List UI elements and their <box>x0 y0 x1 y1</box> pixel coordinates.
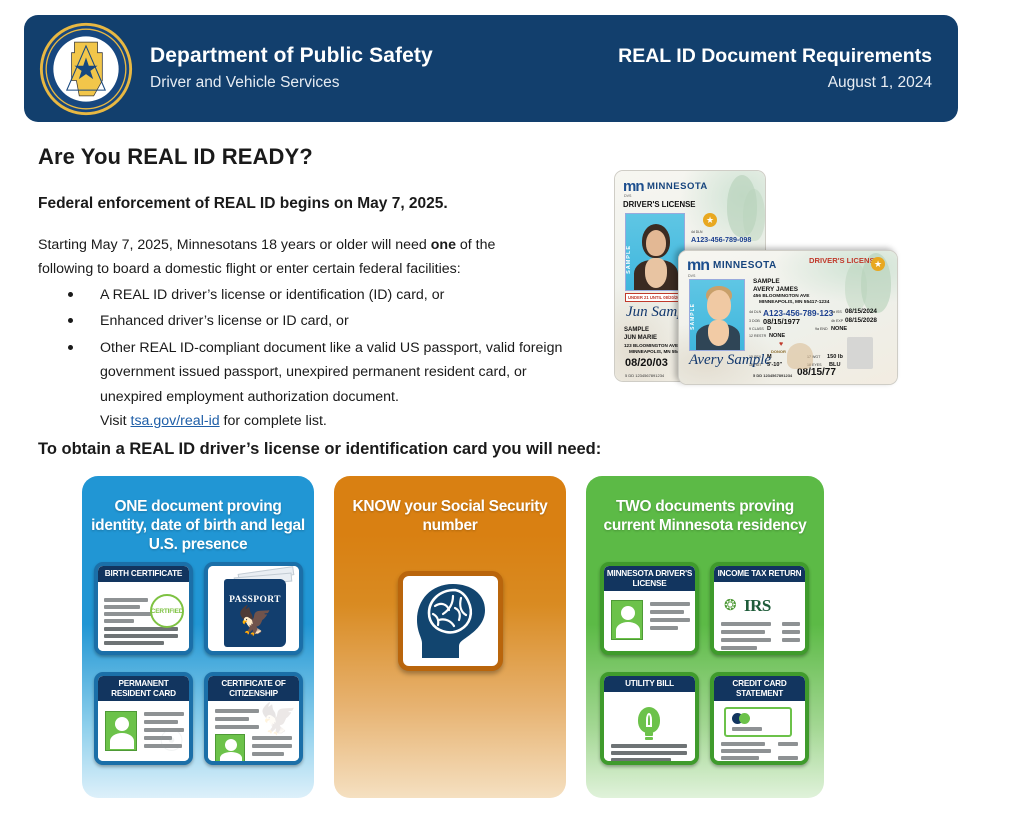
requirements-list: A REAL ID driver’s license or identifica… <box>38 283 583 436</box>
class-label: 9 CLASS <box>749 327 764 331</box>
tile-title: INCOME TAX RETURN <box>714 566 805 582</box>
list-item-label: Enhanced driver’s license or ID card, or <box>100 313 349 329</box>
address-line-1: 456 BLOOMINGTON AVE <box>753 294 809 299</box>
doc-tile-minnesota-drivers-license[interactable]: MINNESOTA DRIVER'S LICENSE <box>600 562 699 655</box>
tile-title: MINNESOTA DRIVER'S LICENSE <box>604 566 695 591</box>
document-discriminator: 5 DD 1234567891234 <box>625 373 664 378</box>
doc-tile-utility-bill[interactable]: UTILITY BILL <box>600 672 699 765</box>
ghost-photo <box>847 337 873 369</box>
gold-star-icon: ★ <box>703 213 717 227</box>
visit-prefix: Visit <box>100 413 131 429</box>
doc-tile-certificate-of-citizenship[interactable]: CERTIFICATE OF CITIZENSHIP 🦅 <box>204 672 303 765</box>
dln-value: A123-456-789-098 <box>691 235 751 244</box>
tile-title: UTILITY BILL <box>604 676 695 692</box>
gold-star-icon: ★ <box>871 257 885 271</box>
mn-logo-sub: DVS <box>688 274 695 278</box>
sample-watermark: SAMPLE <box>626 245 632 274</box>
end-label: 9a END <box>815 327 828 331</box>
division-name: Driver and Vehicle Services <box>150 71 433 94</box>
enforcement-subheading: Federal enforcement of REAL ID begins on… <box>38 195 448 213</box>
tile-title: CREDIT CARD STATEMENT <box>714 676 805 701</box>
intro-text-before: Starting May 7, 2025, Minnesotans 18 yea… <box>38 237 431 253</box>
dob-label: 3 DOB <box>749 319 760 323</box>
page-title: Are You REAL ID READY? <box>38 144 313 170</box>
irs-seal-icon: ❂ <box>724 598 737 613</box>
doc-tile-brain-head[interactable] <box>398 571 503 671</box>
restr-value: NONE <box>769 333 785 339</box>
list-item-label: Other REAL ID-compliant document like a … <box>100 340 562 405</box>
intro-text-bold: one <box>431 237 456 253</box>
first-name: AVERY JAMES <box>753 286 798 293</box>
panel-residency: TWO documents proving current Minnesota … <box>586 476 824 798</box>
iss-label: 4a ISS <box>831 310 842 314</box>
tsa-real-id-link[interactable]: tsa.gov/real-id <box>131 413 220 429</box>
state-name: MINNESOTA <box>647 181 708 192</box>
panel-title: TWO documents proving current Minnesota … <box>586 498 824 536</box>
first-name: JUN MARIE <box>624 335 657 341</box>
list-item-label: A REAL ID driver’s license or identifica… <box>100 287 444 303</box>
dob-display: 08/20/03 <box>625 357 668 369</box>
address-line-1: 123 BLOOMINGTON AVE <box>624 343 678 348</box>
portrait-placeholder-icon <box>611 600 643 640</box>
doc-tile-income-tax-return[interactable]: INCOME TAX RETURN ❂ IRS <box>710 562 809 655</box>
license-photo <box>625 213 685 291</box>
document-title: REAL ID Document Requirements <box>618 44 932 69</box>
header-right: REAL ID Document Requirements August 1, … <box>618 44 932 93</box>
mn-logo-sub: DVS <box>624 194 631 198</box>
sample-license-images: mn DVS MINNESOTA DRIVER'S LICENSE SAMPLE… <box>608 170 958 390</box>
seal-watermark-icon: ☉ <box>158 724 185 759</box>
donor-label: DONOR <box>771 349 786 354</box>
mn-dps-seal-icon: DEPARTMENT OF PUBLIC SAFETY STATE OF MIN… <box>38 21 134 117</box>
irs-label: IRS <box>744 596 771 616</box>
exp-label: 4b EXP <box>831 319 843 323</box>
page-root: DEPARTMENT OF PUBLIC SAFETY STATE OF MIN… <box>0 0 1010 828</box>
tile-title: PERMANENT RESIDENT CARD <box>98 676 189 701</box>
heart-donor-icon: ♥ <box>779 341 783 348</box>
license-signature: Avery Sample <box>689 352 771 369</box>
document-date: August 1, 2024 <box>618 73 932 93</box>
portrait-placeholder-icon <box>105 711 137 751</box>
panel-identity: ONE document proving identity, date of b… <box>82 476 314 798</box>
document-type: DRIVER'S LICENSE <box>809 257 880 265</box>
address-line-2: MINNEAPOLIS, MN 55417 <box>629 349 685 354</box>
doc-tile-birth-certificate[interactable]: BIRTH CERTIFICATE CERTIFIED <box>94 562 193 655</box>
visit-suffix: for complete list. <box>220 413 327 429</box>
doc-tile-permanent-resident-card[interactable]: PERMANENT RESIDENT CARD ☉ <box>94 672 193 765</box>
certified-stamp-icon: CERTIFIED <box>150 594 184 628</box>
bullet-dot-icon <box>68 345 73 350</box>
obtain-heading: To obtain a REAL ID driver’s license or … <box>38 440 601 459</box>
restr-label: 12 RESTR <box>749 334 766 338</box>
license-photo <box>689 279 745 351</box>
department-name: Department of Public Safety <box>150 43 433 69</box>
sample-drivers-license-horizontal: mn DVS MINNESOTA DRIVER'S LICENSE ★ SAMP… <box>678 250 898 385</box>
credit-card-icon <box>724 707 792 737</box>
list-item: Enhanced driver’s license or ID card, or <box>38 309 583 333</box>
tile-title: BIRTH CERTIFICATE <box>98 566 189 582</box>
dob-value: 08/15/1977 <box>763 317 800 326</box>
intro-paragraph: Starting May 7, 2025, Minnesotans 18 yea… <box>38 233 553 282</box>
list-item: Other REAL ID-compliant document like a … <box>38 336 583 434</box>
header-titles: Department of Public Safety Driver and V… <box>150 43 433 95</box>
bear-watermark-icon <box>787 343 813 369</box>
end-value: NONE <box>831 326 847 332</box>
passport-label: PASSPORT <box>224 595 286 605</box>
last-name: SAMPLE <box>753 278 780 285</box>
dln-label: 4d DLN <box>691 230 703 234</box>
sample-watermark: SAMPLE <box>690 303 696 330</box>
panel-ssn: KNOW your Social Security number <box>334 476 566 798</box>
tile-title: CERTIFICATE OF CITIZENSHIP <box>208 676 299 701</box>
last-name: SAMPLE <box>624 327 649 333</box>
state-name: MINNESOTA <box>713 260 777 271</box>
list-item: A REAL ID driver’s license or identifica… <box>38 283 583 307</box>
page-header: DEPARTMENT OF PUBLIC SAFETY STATE OF MIN… <box>24 15 958 122</box>
portrait-placeholder-icon <box>215 734 245 762</box>
address-line-2: MINNEAPOLIS, MN 55417-1234 <box>759 300 829 305</box>
eagle-watermark-icon: 🦅 <box>260 702 297 737</box>
mn-logo-icon: mn <box>623 178 644 195</box>
mn-logo-icon: mn <box>687 257 709 275</box>
doc-tile-passport[interactable]: PASSPORT 🦅 <box>204 562 303 655</box>
document-discriminator: 5 DD 1234567891234 <box>753 373 792 378</box>
panel-title: KNOW your Social Security number <box>334 498 566 536</box>
document-type: DRIVER'S LICENSE <box>623 200 695 209</box>
doc-tile-credit-card-statement[interactable]: CREDIT CARD STATEMENT <box>710 672 809 765</box>
bullet-dot-icon <box>68 318 73 323</box>
head-brain-icon <box>409 580 493 662</box>
eagle-icon: 🦅 <box>224 607 286 635</box>
wgt-value: 150 lb <box>827 354 843 360</box>
panel-title: ONE document proving identity, date of b… <box>82 498 314 555</box>
iss-value: 08/15/2024 <box>845 308 877 315</box>
class-value: D <box>767 326 771 332</box>
exp-value: 08/15/2028 <box>845 317 877 324</box>
bullet-dot-icon <box>68 292 73 297</box>
dln-label: 4d DLN <box>749 310 761 314</box>
